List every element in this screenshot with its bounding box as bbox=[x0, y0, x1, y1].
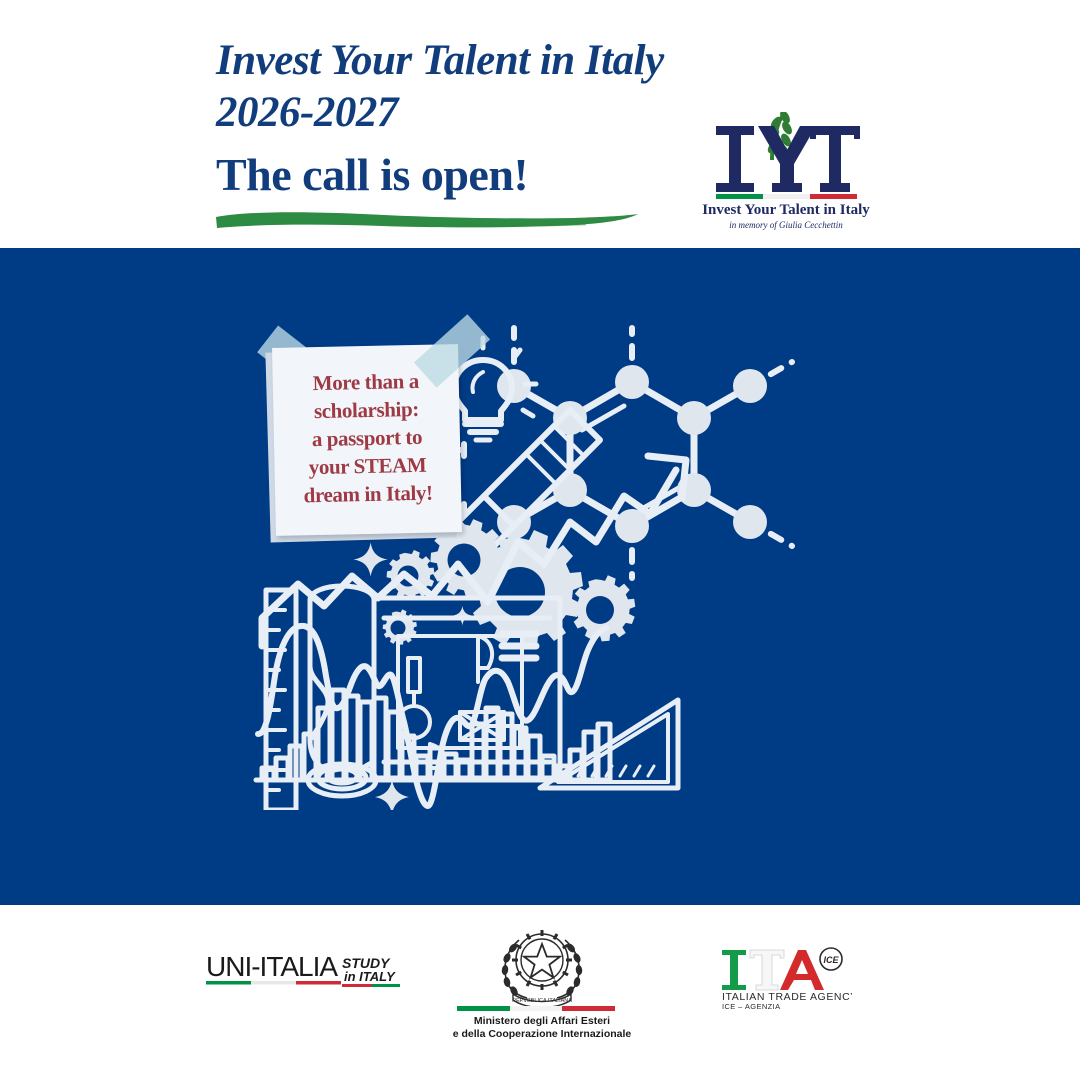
uni-italia-wordmark: UNI-ITALIA bbox=[206, 951, 338, 982]
sticky-note-text: More than a scholarship: a passport to y… bbox=[273, 366, 462, 510]
header-section: Invest Your Talent in Italy 2026-2027 Th… bbox=[0, 0, 1080, 248]
maeci-line-1: Ministero degli Affari Esteri bbox=[474, 1015, 610, 1027]
uni-italia-in-italy: in ITALY bbox=[344, 969, 396, 984]
ice-badge-label: ICE bbox=[823, 955, 839, 965]
ice-badge-icon: ICE bbox=[820, 948, 842, 970]
italian-republic-emblem: REPVBBLICA ITALIANA bbox=[501, 930, 583, 1008]
iyt-letters bbox=[716, 126, 860, 192]
sticky-line-2: scholarship: bbox=[273, 394, 460, 426]
iyt-logo: Invest Your Talent in Italy in memory of… bbox=[688, 112, 884, 234]
sticky-line-3: a passport to bbox=[274, 422, 461, 454]
blue-hero-panel: More than a scholarship: a passport to y… bbox=[0, 248, 1080, 905]
headline-call-open: The call is open! bbox=[216, 146, 686, 204]
ita-wordmark bbox=[722, 950, 824, 990]
molecule-nodes bbox=[497, 365, 767, 543]
headline-title: Invest Your Talent in Italy bbox=[216, 36, 686, 86]
maeci-flag-bar bbox=[457, 1006, 615, 1011]
sticky-note: More than a scholarship: a passport to y… bbox=[258, 328, 498, 548]
maeci-logo: REPVBBLICA ITALIANA Ministero degli Affa… bbox=[447, 918, 637, 1040]
iyt-logo-name: Invest Your Talent in Italy bbox=[702, 202, 870, 218]
poster-canvas: Invest Your Talent in Italy 2026-2027 Th… bbox=[0, 0, 1080, 1080]
italian-flag-bar bbox=[716, 194, 857, 199]
green-brush-underline bbox=[214, 206, 640, 232]
maeci-line-2: e della Cooperazione Internazionale bbox=[453, 1028, 632, 1040]
headline-block: Invest Your Talent in Italy 2026-2027 Th… bbox=[216, 36, 686, 204]
svg-text:REPVBBLICA ITALIANA: REPVBBLICA ITALIANA bbox=[512, 998, 572, 1004]
sticky-line-4: your STEAM bbox=[274, 450, 461, 482]
headline-years: 2026-2027 bbox=[216, 86, 686, 140]
iyt-logo-memorial: in memory of Giulia Cecchettin bbox=[729, 220, 843, 230]
sticky-line-5: dream in Italy! bbox=[275, 478, 462, 510]
ita-logo: ICE ITALIAN TRADE AGENCY ICE – AGENZIA bbox=[718, 946, 852, 1010]
uni-italia-logo: UNI-ITALIA STUDY in ITALY bbox=[206, 948, 402, 992]
ita-agency-label: ICE – AGENZIA bbox=[722, 1002, 781, 1010]
